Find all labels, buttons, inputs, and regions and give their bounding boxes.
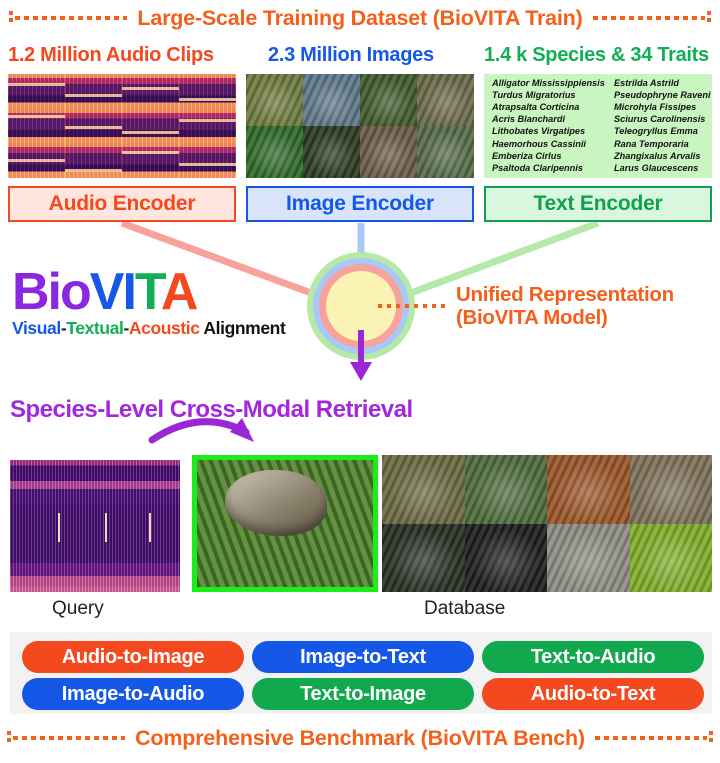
unified-ring-red — [319, 264, 403, 348]
species-item: Alligator Mississippiensis — [492, 79, 600, 88]
biovita-tagline: Visual-Textual-Acoustic Alignment — [12, 320, 285, 338]
database-thumb[interactable] — [547, 524, 630, 593]
task-pill-audio-to-image[interactable]: Audio-to-Image — [22, 641, 244, 673]
spectrogram-thumb — [179, 109, 236, 144]
spectrogram-thumb — [8, 143, 65, 178]
biovita-wordmark: BioVITA — [12, 266, 285, 318]
image-grid-panel — [246, 74, 474, 178]
text-encoder-button[interactable]: Text Encoder — [484, 186, 712, 222]
task-label: Audio-to-Text — [531, 683, 656, 706]
unified-caption-line-2: (BioVITA Model) — [456, 307, 674, 330]
unified-caption-line-1: Unified Representation — [456, 284, 674, 307]
task-label: Text-to-Audio — [531, 646, 656, 669]
unified-ring-blue — [313, 258, 409, 354]
logo-part-bio: Bio — [12, 263, 90, 321]
spectrogram-thumb — [65, 143, 122, 178]
nature-photo-thumb — [246, 74, 303, 126]
species-item: Pseudophryne Raveni — [614, 91, 711, 100]
unified-core — [326, 271, 396, 341]
species-column-left: Alligator Mississippiensis Turdus Migrat… — [492, 79, 600, 173]
audio-encoder-button[interactable]: Audio Encoder — [8, 186, 236, 222]
text-column-heading: 1.4 k Species & 34 Traits — [484, 44, 709, 67]
task-label: Image-to-Audio — [62, 683, 204, 706]
species-item: Rana Temporaria — [614, 140, 711, 149]
database-thumb[interactable] — [547, 455, 630, 524]
nature-photo-thumb — [417, 126, 474, 178]
species-item: Haemorhous Cassinii — [492, 140, 600, 149]
species-item: Acris Blanchardi — [492, 115, 600, 124]
task-pill-image-to-text[interactable]: Image-to-Text — [252, 641, 474, 673]
task-pill-audio-to-text[interactable]: Audio-to-Text — [482, 678, 704, 710]
dash-decoration-left — [9, 11, 127, 25]
database-caption: Database — [424, 598, 505, 620]
species-trait-list: Alligator Mississippiensis Turdus Migrat… — [484, 74, 712, 178]
tagline-acoustic: Acoustic — [129, 318, 200, 338]
top-banner: Large-Scale Training Dataset (BioVITA Tr… — [0, 6, 720, 30]
species-item: Larus Glaucescens — [614, 164, 711, 173]
bottom-banner: Comprehensive Benchmark (BioVITA Bench) — [0, 726, 720, 750]
species-item: Lithobates Virgatipes — [492, 127, 600, 136]
spectrogram-thumb — [179, 143, 236, 178]
database-thumb[interactable] — [465, 524, 548, 593]
unified-ring-green — [307, 252, 415, 360]
tagline-visual: Visual — [12, 318, 61, 338]
species-item: Atrapsalta Corticina — [492, 103, 600, 112]
retrieval-arrow-curve — [152, 422, 246, 440]
query-spectrogram — [10, 460, 180, 592]
nature-photo-thumb — [303, 74, 360, 126]
database-thumb[interactable] — [382, 455, 465, 524]
unified-representation-caption: Unified Representation (BioVITA Model) — [456, 284, 674, 330]
database-thumb[interactable] — [630, 455, 713, 524]
species-item: Teleogryllus Emma — [614, 127, 711, 136]
spectrogram-thumb — [122, 143, 179, 178]
image-column-heading: 2.3 Million Images — [268, 44, 434, 67]
audio-spectrogram-panel — [8, 74, 236, 178]
task-label: Text-to-Image — [300, 683, 426, 706]
task-label: Audio-to-Image — [62, 646, 204, 669]
nature-photo-thumb — [360, 74, 417, 126]
species-column-right: Estrilda Astrild Pseudophryne Raveni Mic… — [614, 79, 711, 173]
logo-part-a: A — [161, 263, 197, 321]
nature-photo-thumb — [303, 126, 360, 178]
retrieval-section-title: Species-Level Cross-Modal Retrieval — [10, 396, 413, 424]
text-encoder-label: Text Encoder — [533, 192, 662, 216]
dash-decoration-right — [593, 11, 711, 25]
tagline-alignment: Alignment — [200, 318, 286, 338]
figure-root: Large-Scale Training Dataset (BioVITA Tr… — [0, 0, 720, 763]
task-pill-image-to-audio[interactable]: Image-to-Audio — [22, 678, 244, 710]
species-item: Zhangixalus Arvalis — [614, 152, 711, 161]
bottom-banner-title: Comprehensive Benchmark (BioVITA Bench) — [135, 726, 585, 751]
spectrogram-thumb — [65, 109, 122, 144]
database-image-grid — [382, 455, 712, 592]
retrieved-match-highlighted[interactable] — [192, 455, 378, 592]
dash-decoration-bottom-left — [7, 731, 125, 745]
spectrogram-thumb — [8, 74, 65, 109]
species-item: Psaltoda Claripennis — [492, 164, 600, 173]
logo-part-vi: VI — [90, 263, 135, 321]
database-thumb[interactable] — [465, 455, 548, 524]
audio-encoder-label: Audio Encoder — [49, 192, 196, 216]
species-item: Sciurus Carolinensis — [614, 115, 711, 124]
task-label: Image-to-Text — [300, 646, 426, 669]
nature-photo-thumb — [417, 74, 474, 126]
spectrogram-thumb — [65, 74, 122, 109]
species-item: Estrilda Astrild — [614, 79, 711, 88]
biovita-logo: BioVITA Visual-Textual-Acoustic Alignmen… — [12, 266, 285, 338]
tagline-textual: Textual — [66, 318, 123, 338]
database-thumb[interactable] — [382, 524, 465, 593]
nature-photo-thumb — [360, 126, 417, 178]
dash-decoration-bottom-right — [595, 731, 713, 745]
species-item: Turdus Migratorius — [492, 91, 600, 100]
nature-photo-thumb — [246, 126, 303, 178]
spectrogram-thumb — [8, 109, 65, 144]
species-item: Microhyla Fissipes — [614, 103, 711, 112]
spectrogram-thumb — [122, 74, 179, 109]
logo-part-t: T — [135, 263, 161, 321]
query-caption: Query — [52, 598, 104, 620]
species-item: Emberiza Cirlus — [492, 152, 600, 161]
spectrogram-thumb — [122, 109, 179, 144]
model-output-arrow-head — [350, 362, 372, 381]
image-encoder-button[interactable]: Image Encoder — [246, 186, 474, 222]
task-pill-text-to-image[interactable]: Text-to-Image — [252, 678, 474, 710]
spectrogram-thumb — [179, 74, 236, 109]
task-pill-text-to-audio[interactable]: Text-to-Audio — [482, 641, 704, 673]
retrieved-match-image — [197, 460, 373, 587]
audio-column-heading: 1.2 Million Audio Clips — [8, 44, 214, 67]
top-banner-title: Large-Scale Training Dataset (BioVITA Tr… — [137, 6, 582, 31]
database-thumb[interactable] — [630, 524, 713, 593]
image-encoder-label: Image Encoder — [286, 192, 434, 216]
